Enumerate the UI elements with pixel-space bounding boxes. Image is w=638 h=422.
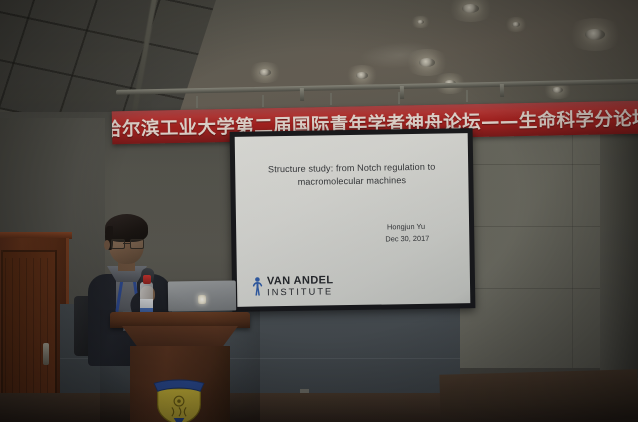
banner-hook (466, 90, 468, 102)
bottle-cap (143, 275, 151, 284)
slide-title-line-2: macromolecular machines (298, 175, 407, 187)
university-crest-emblem (152, 378, 206, 422)
logo-line-2: INSTITUTE (267, 287, 334, 297)
eyeglasses-icon (111, 239, 143, 247)
downlight-icon (512, 22, 520, 27)
laptop-logo-icon (198, 295, 206, 304)
speaker-ear (104, 240, 110, 250)
door-grooves (5, 258, 49, 393)
banner-hook (330, 93, 332, 105)
logo-line-1: VAN ANDEL (267, 275, 334, 287)
slide-title: Structure study: from Notch regulation t… (235, 160, 468, 190)
rail-bracket (300, 88, 304, 101)
slide-date: Dec 30, 2017 (385, 233, 429, 246)
water-bottle (140, 275, 153, 317)
photo-scene: 哈尔滨工业大学第二届国际青年学者神舟论坛——生命科学分论坛 Structure … (0, 0, 638, 422)
banner-hook (262, 95, 264, 107)
downlight-icon (462, 4, 479, 13)
van-andel-figure-icon (251, 277, 264, 297)
far-right-wall (600, 118, 638, 378)
slide-title-line-1: Structure study: from Notch regulation t… (268, 162, 435, 175)
downlight-icon (259, 69, 271, 76)
slide-author: Hongjun Yu (387, 221, 425, 234)
stage-floor-right (439, 369, 638, 422)
downlight-icon (356, 72, 368, 79)
projection-screen: Structure study: from Notch regulation t… (230, 128, 476, 312)
banner-hook (196, 96, 198, 108)
door-handle[interactable] (43, 343, 49, 365)
van-andel-wordmark: VAN ANDEL INSTITUTE (267, 275, 334, 297)
downlight-icon (585, 29, 605, 40)
downlight-icon (419, 58, 435, 67)
presentation-slide: Structure study: from Notch regulation t… (235, 133, 471, 307)
rail-bracket (400, 86, 404, 99)
laptop[interactable] (168, 281, 236, 312)
banner-hook (398, 92, 400, 104)
downlight-icon (552, 87, 563, 93)
podium-top (110, 312, 250, 328)
van-andel-institute-logo: VAN ANDEL INSTITUTE (251, 275, 334, 298)
podium-neck (122, 326, 238, 348)
downlight-icon (417, 20, 424, 24)
rail-bracket (500, 84, 504, 97)
